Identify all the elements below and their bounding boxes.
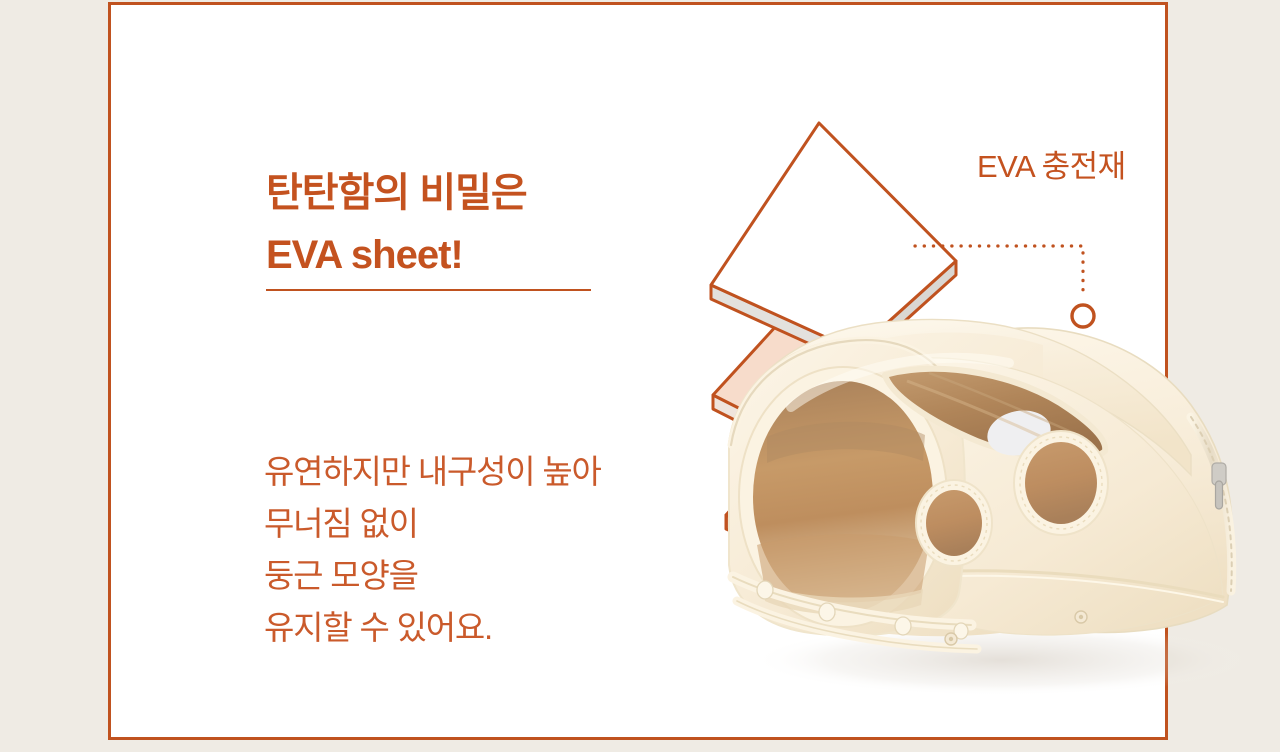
vent-hole-small xyxy=(926,490,982,556)
headline-line-1: 탄탄함의 비밀은 xyxy=(266,171,527,215)
product-illustration xyxy=(671,45,1280,725)
body-paragraph: 유연하지만 내구성이 높아 무너짐 없이 둥근 모양을 유지할 수 있어요. xyxy=(264,446,724,654)
pet-carrier-bag xyxy=(729,319,1251,696)
callout-circle xyxy=(1072,305,1094,327)
vent-hole-large xyxy=(1025,442,1097,524)
headline-block: 탄탄함의 비밀은 EVA sheet! xyxy=(266,100,686,348)
headline-divider xyxy=(266,289,591,291)
headline-line-2: EVA sheet! xyxy=(266,224,686,286)
eva-filler-label: EVA 충전재 xyxy=(977,141,1126,186)
slide-canvas: 탄탄함의 비밀은 EVA sheet! 유연하지만 내구성이 높아 무너짐 없이… xyxy=(0,0,1280,752)
page-title: 탄탄함의 비밀은 EVA sheet! xyxy=(266,100,686,348)
content-panel: 탄탄함의 비밀은 EVA sheet! 유연하지만 내구성이 높아 무너짐 없이… xyxy=(108,2,1168,740)
